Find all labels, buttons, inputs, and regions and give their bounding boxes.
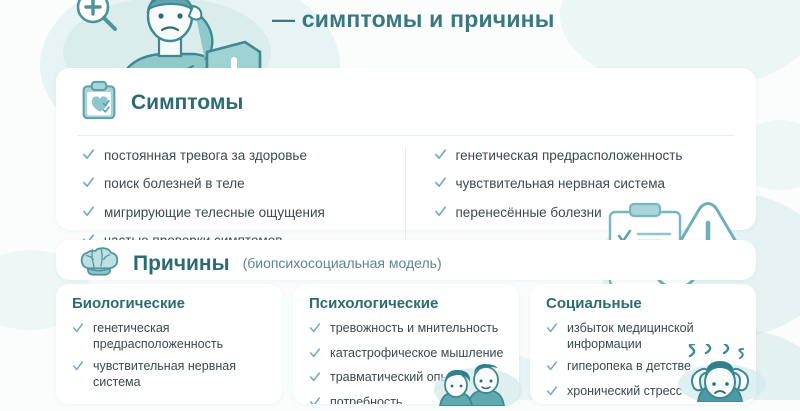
page-title: — симптомы и причины xyxy=(272,6,555,33)
list-item-label: потребность xyxy=(330,395,402,404)
cause-card-title: Социальные xyxy=(546,295,743,312)
check-icon xyxy=(309,347,321,364)
symptoms-header: Симптомы xyxy=(56,68,756,135)
causes-header: Причины (биопсихосоциальная модель) xyxy=(56,240,756,280)
list-item-label: поиск болезней в теле xyxy=(104,175,245,192)
causes-columns: Биологические генетическая предрасположе… xyxy=(56,284,756,404)
list-item: потребность xyxy=(309,395,506,404)
clipboard-heart-icon xyxy=(80,80,118,125)
check-icon xyxy=(82,205,95,222)
list-item-label: генетическая предрасположенность xyxy=(93,321,269,352)
check-icon xyxy=(434,176,447,193)
list-item: тревожность и мнительность xyxy=(309,321,506,339)
check-icon xyxy=(434,148,447,165)
check-icon xyxy=(72,360,84,377)
list-item: чувствительная нервная система xyxy=(72,359,269,390)
causes-title: Причины xyxy=(133,252,230,276)
check-icon xyxy=(546,322,558,339)
list-item-label: генетическая предрасположенность xyxy=(456,147,683,164)
causes-subtitle: (биопсихосоциальная модель) xyxy=(243,255,442,272)
list-item: поиск болезней в теле xyxy=(82,175,391,193)
list-item: гиперопека в детстве xyxy=(546,359,743,377)
list-item: генетическая предрасположенность xyxy=(72,321,269,352)
symptoms-title: Симптомы xyxy=(131,91,243,115)
list-item-label: хронический стресс xyxy=(567,384,682,400)
list-item: катастрофическое мышление xyxy=(309,346,506,364)
brain-icon xyxy=(78,245,120,282)
list-item: хронический стресс xyxy=(546,384,743,402)
cause-card-title: Психологические xyxy=(309,295,506,312)
list-item-label: чувствительная нервная система xyxy=(93,359,269,390)
list-item: постоянная тревога за здоровье xyxy=(82,147,391,165)
symptoms-section: Симптомы постоянная тревога за здоровье … xyxy=(56,68,756,230)
cause-card-biological: Биологические генетическая предрасположе… xyxy=(56,284,282,404)
list-item-label: травматический опыт xyxy=(330,370,455,386)
list-item-label: гиперопека в детстве xyxy=(567,359,691,375)
list-item: травматический опыт xyxy=(309,370,506,388)
list-item-label: постоянная тревога за здоровье xyxy=(104,147,307,164)
list-item-label: катастрофическое мышление xyxy=(330,346,504,362)
cause-card-social: Социальные избыток медицинской информаци… xyxy=(530,284,756,404)
list-item-label: чувствительная нервная система xyxy=(456,175,666,192)
check-icon xyxy=(546,385,558,402)
list-item: избыток медицинской информации xyxy=(546,321,743,352)
check-icon xyxy=(72,322,84,339)
check-icon xyxy=(434,205,447,222)
list-item: перенесённые болезни xyxy=(434,204,743,222)
cause-card-title: Биологические xyxy=(72,295,269,312)
check-icon xyxy=(82,148,95,165)
list-item-label: избыток медицинской информации xyxy=(567,321,743,352)
check-icon xyxy=(546,360,558,377)
list-item-label: тревожность и мнительность xyxy=(330,321,498,337)
list-item-label: перенесённые болезни xyxy=(456,204,602,221)
list-item: генетическая предрасположенность xyxy=(434,147,743,165)
list-item: мигрирующие телесные ощущения xyxy=(82,204,391,222)
check-icon xyxy=(82,176,95,193)
check-icon xyxy=(309,322,321,339)
list-item: чувствительная нервная система xyxy=(434,175,743,193)
cause-card-psychological: Психологические тревожность и мнительнос… xyxy=(293,284,519,404)
check-icon xyxy=(309,371,321,388)
list-item-label: мигрирующие телесные ощущения xyxy=(104,204,325,221)
